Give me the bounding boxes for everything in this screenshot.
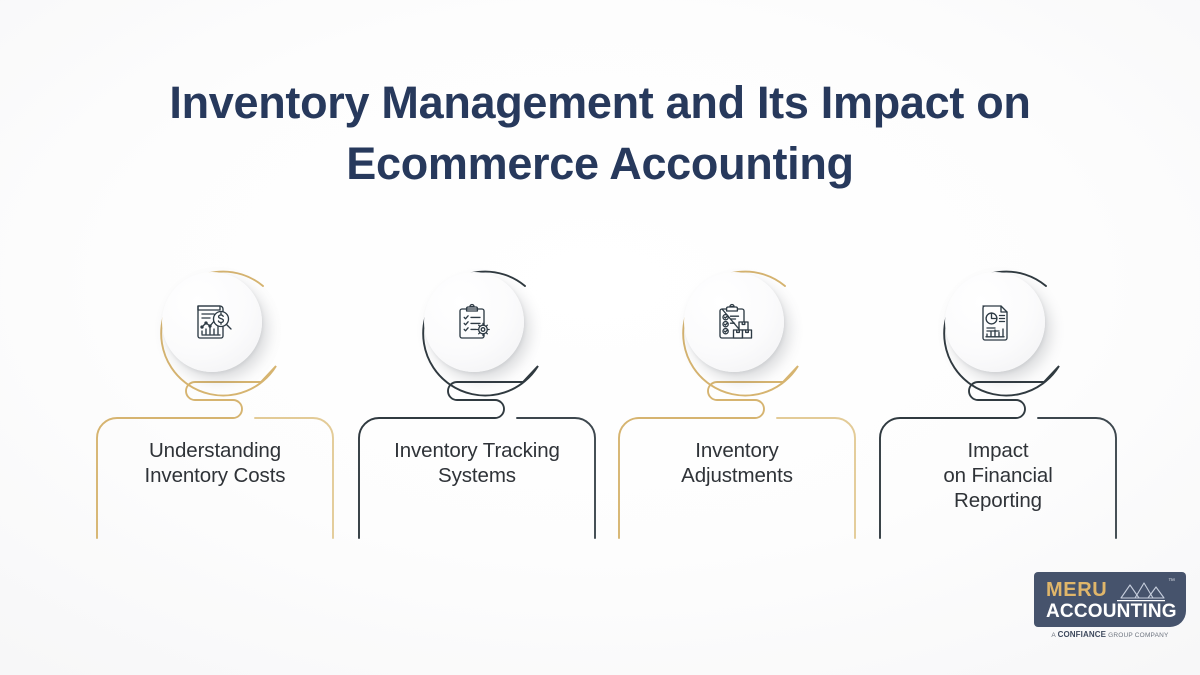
flow-step-3-label-line-1: Inventory <box>617 438 857 463</box>
flow-step-1-label-line-1: Understanding <box>95 438 335 463</box>
flow-step-2-icon-disc <box>424 272 524 372</box>
logo-brand-secondary: ACCOUNTING <box>1046 601 1177 622</box>
clipboard-checklist-gear-icon <box>449 297 499 347</box>
process-flow: Understanding Inventory Costs <box>0 258 1200 538</box>
flow-step-4-icon-disc <box>945 272 1045 372</box>
flow-step-2-label-line-2: Systems <box>357 463 597 488</box>
flow-step-4-label-line-3: Reporting <box>878 488 1118 513</box>
page-title-line-1: Inventory Management and Its Impact on <box>0 72 1200 133</box>
logo-tagline: A CONFIANCE GROUP COMPANY <box>1034 630 1186 640</box>
logo-tagline-brand: CONFIANCE <box>1058 630 1106 639</box>
flow-step-3-label-line-2: Adjustments <box>617 463 857 488</box>
clipboard-checklist-boxes-icon <box>709 297 759 347</box>
logo-tagline-suffix: GROUP COMPANY <box>1106 632 1169 639</box>
logo-brand-primary: MERU <box>1046 579 1107 601</box>
flow-step-4-label-line-2: on Financial <box>878 463 1118 488</box>
flow-step-1-label-line-2: Inventory Costs <box>95 463 335 488</box>
flow-step-3[interactable]: Inventory Adjustments <box>607 258 867 538</box>
logo-trademark: ™ <box>1168 578 1175 586</box>
flow-step-3-icon-disc <box>684 272 784 372</box>
mountain-peaks-icon <box>1115 580 1167 602</box>
flow-step-3-label: Inventory Adjustments <box>617 438 857 488</box>
page-title: Inventory Management and Its Impact on E… <box>0 72 1200 194</box>
flow-step-2-label-line-1: Inventory Tracking <box>357 438 597 463</box>
brand-logo[interactable]: MERU ACCOUNTING ™ A CONFIANCE GROUP COMP… <box>1034 572 1186 647</box>
flow-step-2[interactable]: Inventory Tracking Systems <box>347 258 607 538</box>
document-pie-bar-chart-icon <box>970 297 1020 347</box>
flow-step-4-label-line-1: Impact <box>878 438 1118 463</box>
infographic-canvas: Inventory Management and Its Impact on E… <box>0 0 1200 675</box>
flow-step-4[interactable]: Impact on Financial Reporting <box>868 258 1128 538</box>
flow-step-4-label: Impact on Financial Reporting <box>878 438 1118 513</box>
flow-step-2-label: Inventory Tracking Systems <box>357 438 597 488</box>
flow-step-1[interactable]: Understanding Inventory Costs <box>85 258 345 538</box>
report-chart-search-dollar-icon <box>187 297 237 347</box>
page-title-line-2: Ecommerce Accounting <box>0 133 1200 194</box>
flow-step-1-icon-disc <box>162 272 262 372</box>
flow-step-1-label: Understanding Inventory Costs <box>95 438 335 488</box>
